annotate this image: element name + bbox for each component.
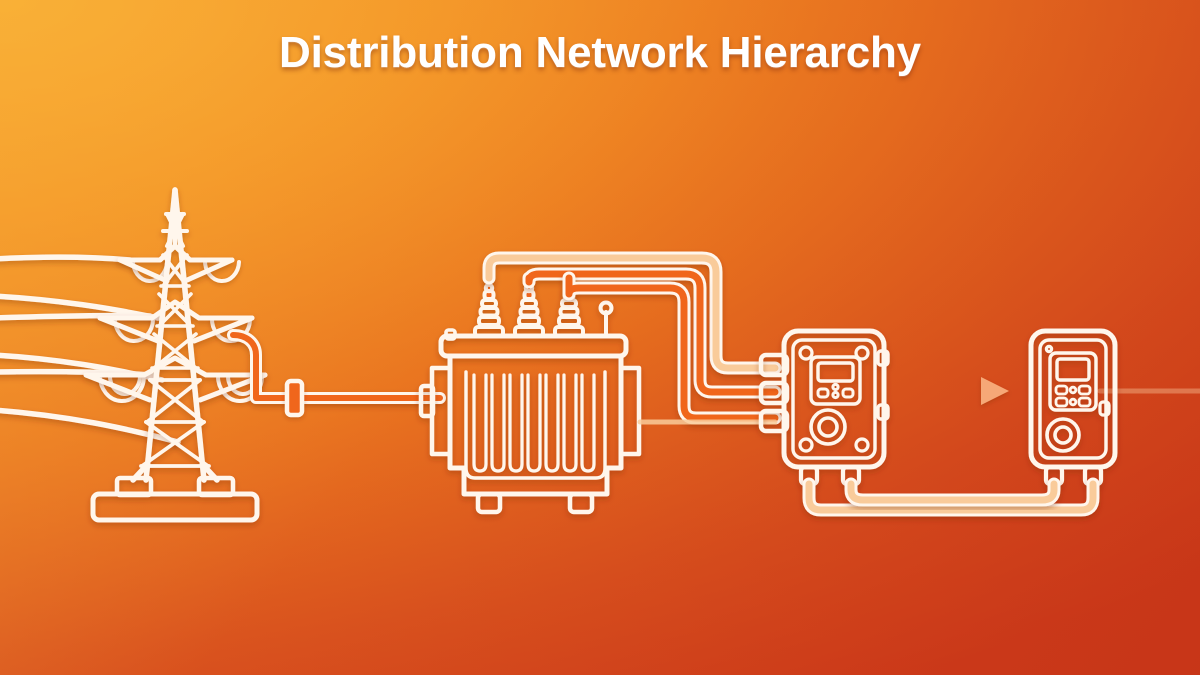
cable-insulator-block-icon (287, 381, 302, 415)
control-cabinet-icon (761, 331, 888, 484)
electric-meter-icon (1031, 331, 1115, 484)
diagram-artwork (0, 50, 1200, 675)
transmission-tower-icon (86, 190, 265, 520)
cabinet-to-meter-lowvolt-cables (809, 484, 1093, 510)
tower-to-transformer-cable (233, 335, 440, 398)
transformer-to-cabinet-bus (489, 258, 775, 422)
power-transformer-icon (421, 278, 639, 512)
diagram-canvas: Distribution Network Hierarchy (0, 0, 1200, 675)
flow-arrow-icon (893, 377, 1009, 405)
